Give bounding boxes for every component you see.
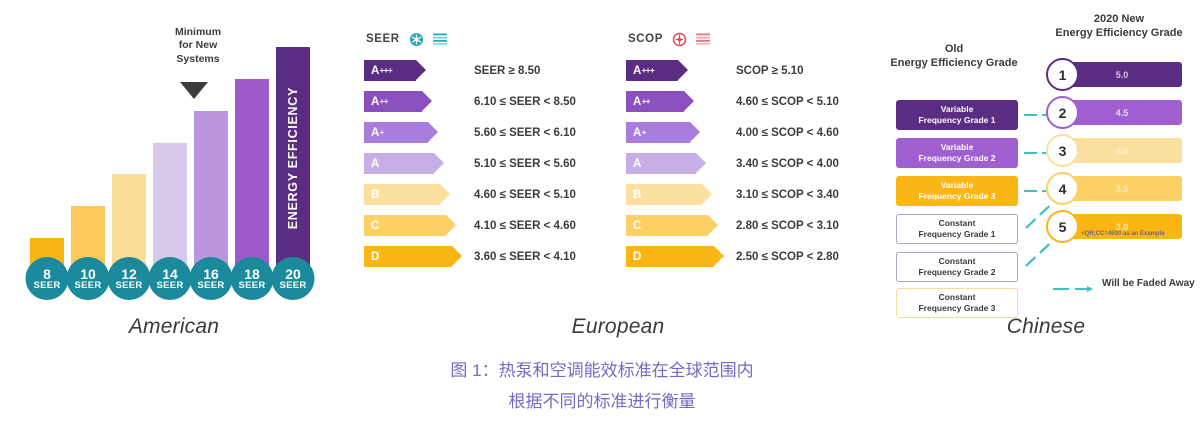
scop-grade-arrow: C <box>626 215 708 236</box>
scop-grade-letter: A <box>633 65 642 77</box>
seer-grade-row: B4.60 ≤ SEER < 5.10 <box>364 181 452 208</box>
seer-badge-label: SEER <box>156 281 183 291</box>
scop-grade-range: 3.10 ≤ SCOP < 3.40 <box>736 189 839 201</box>
new-grade-rank-circle: 2 <box>1046 96 1079 129</box>
seer-grade-row: A5.10 ≤ SEER < 5.60 <box>364 150 452 177</box>
seer-grade-range: 5.10 ≤ SEER < 5.60 <box>474 158 576 170</box>
new-grade-row: 4.52 <box>1046 100 1186 126</box>
seer-badge-value: 14 <box>162 267 178 281</box>
seer-grade-range: 3.60 ≤ SEER < 4.10 <box>474 251 576 263</box>
seer-header: SEER <box>364 30 452 48</box>
american-bar-slot: 8SEER <box>30 40 64 270</box>
scop-grade-range: 2.50 ≤ SCOP < 2.80 <box>736 251 839 263</box>
old-grade-box: ConstantFrequency Grade 1 <box>896 214 1018 244</box>
caption-line-2: 根据不同的标准进行衡量 <box>0 386 1204 417</box>
seer-grade-list: A+++SEER ≥ 8.50A++6.10 ≤ SEER < 8.50A+5.… <box>364 57 452 270</box>
scop-grade-letter: D <box>633 251 642 263</box>
seer-badge-label: SEER <box>33 281 60 291</box>
scop-grade-arrow: D <box>626 246 714 267</box>
scop-grade-arrow: A++ <box>626 91 684 112</box>
scop-grade-letter: B <box>633 189 642 201</box>
american-bar <box>235 79 269 270</box>
scop-grade-range: 4.00 ≤ SCOP < 4.60 <box>736 127 839 139</box>
american-bar: ENERGY EFFICIENCY <box>276 47 310 270</box>
seer-badge-label: SEER <box>279 281 306 291</box>
will-be-faded-away-label: Will be Faded Away <box>1102 278 1195 289</box>
new-grade-bar: 4.0 <box>1062 138 1182 163</box>
american-bar-slot: 18SEER <box>235 40 269 270</box>
panel-european: SEER A+++SEER ≥ <box>348 0 888 345</box>
seer-badge: 20SEER <box>272 257 315 300</box>
seer-badge: 14SEER <box>149 257 192 300</box>
new-grade-row: 4.03 <box>1046 138 1186 164</box>
seer-grade-range: 6.10 ≤ SEER < 8.50 <box>474 96 576 108</box>
scop-grade-superscript: ++ <box>642 97 650 106</box>
old-grade-line2: Frequency Grade 3 <box>918 191 995 202</box>
heating-icon <box>672 32 687 47</box>
new-grade-rank-circle: 3 <box>1046 134 1079 167</box>
old-grade-box: VariableFrequency Grade 3 <box>896 176 1018 206</box>
seer-badge-value: 10 <box>80 267 96 281</box>
old-grade-line1: Variable <box>941 104 974 115</box>
seer-grade-superscript: ++ <box>380 97 388 106</box>
american-bar <box>194 111 228 270</box>
scop-grade-arrow: A+ <box>626 122 690 143</box>
new-grade-rank-circle: 1 <box>1046 58 1079 91</box>
seer-grade-superscript: + <box>380 128 384 137</box>
caption-line-1: 图 1：热泵和空调能效标准在全球范围内 <box>0 355 1204 386</box>
seer-grade-range: SEER ≥ 8.50 <box>474 65 540 77</box>
seer-badge-label: SEER <box>238 281 265 291</box>
seer-badge-label: SEER <box>115 281 142 291</box>
seer-badge: 12SEER <box>108 257 151 300</box>
new-grade-row: 5.01 <box>1046 62 1186 88</box>
seer-grade-letter: C <box>371 220 380 232</box>
scop-grade-letter: C <box>633 220 642 232</box>
old-grade-line2: Frequency Grade 3 <box>918 303 995 314</box>
old-grade-header-line1: Old <box>890 42 1018 56</box>
scop-header: SCOP <box>626 30 714 48</box>
seer-grade-row: C4.10 ≤ SEER < 4.60 <box>364 212 452 239</box>
min-note-line2: for New <box>152 39 244 52</box>
seer-badge-value: 12 <box>121 267 137 281</box>
seer-grade-range: 4.10 ≤ SEER < 4.60 <box>474 220 576 232</box>
seer-badge-label: SEER <box>197 281 224 291</box>
old-grade-box: VariableFrequency Grade 1 <box>896 100 1018 130</box>
seer-grade-arrow: C <box>364 215 446 236</box>
seer-grade-letter: A <box>371 127 380 139</box>
american-bar <box>112 174 146 270</box>
seer-badge: 18SEER <box>231 257 274 300</box>
scop-grade-row: D2.50 ≤ SCOP < 2.80 <box>626 243 714 270</box>
min-note-line1: Minimum <box>152 26 244 39</box>
european-seer-block: SEER A+++SEER ≥ <box>364 30 452 274</box>
new-grade-rank-circle: 5 <box>1046 210 1079 243</box>
old-grade-line1: Constant <box>939 218 976 229</box>
new-grade-header: 2020 New Energy Efficiency Grade <box>1034 12 1204 41</box>
seer-grade-arrow: A++ <box>364 91 422 112</box>
seer-badge: 16SEER <box>190 257 233 300</box>
scop-grade-range: SCOP ≥ 5.10 <box>736 65 803 77</box>
old-grade-header: Old Energy Efficiency Grade <box>890 42 1018 71</box>
old-grade-box: ConstantFrequency Grade 2 <box>896 252 1018 282</box>
american-bar-slot: 10SEER <box>71 40 105 270</box>
panel-title-european: European <box>348 315 888 339</box>
scop-grade-letter: A <box>633 96 642 108</box>
scop-grade-row: A++4.60 ≤ SCOP < 5.10 <box>626 88 714 115</box>
energy-efficiency-axis-label: ENERGY EFFICIENCY <box>286 87 300 229</box>
new-grade-header-line2: Energy Efficiency Grade <box>1034 26 1204 40</box>
seer-grade-row: A+++SEER ≥ 8.50 <box>364 57 452 84</box>
old-grade-header-line2: Energy Efficiency Grade <box>890 56 1018 70</box>
scop-grade-superscript: + <box>642 128 646 137</box>
new-grade-rank-circle: 4 <box>1046 172 1079 205</box>
seer-grade-letter: A <box>371 158 380 170</box>
new-grade-bar: 5.0 <box>1062 62 1182 87</box>
scop-grade-arrow: B <box>626 184 702 205</box>
old-grade-line1: Constant <box>939 292 976 303</box>
heat-flag-icon <box>696 33 711 45</box>
panel-title-chinese: Chinese <box>888 315 1204 339</box>
european-scop-block: SCOP A+++SCOP ≥ <box>626 30 714 274</box>
old-grade-line2: Frequency Grade 2 <box>918 153 995 164</box>
seer-metric-label: SEER <box>366 33 400 45</box>
scop-grade-range: 3.40 ≤ SCOP < 4.00 <box>736 158 839 170</box>
scop-grade-superscript: +++ <box>642 66 655 75</box>
seer-badge: 8SEER <box>26 257 69 300</box>
faded-away-arrow-icon <box>1053 288 1093 290</box>
scop-grade-range: 2.80 ≤ SCOP < 3.10 <box>736 220 839 232</box>
seer-badge-value: 8 <box>43 267 51 281</box>
scop-grade-letter: A <box>633 158 642 170</box>
scop-grade-row: A+++SCOP ≥ 5.10 <box>626 57 714 84</box>
seer-badge: 10SEER <box>67 257 110 300</box>
seer-grade-range: 5.60 ≤ SEER < 6.10 <box>474 127 576 139</box>
minimum-for-new-systems-note: Minimum for New Systems <box>152 26 244 66</box>
seer-badge-value: 16 <box>203 267 219 281</box>
seer-grade-arrow: B <box>364 184 440 205</box>
seer-badge-value: 18 <box>244 267 260 281</box>
old-grade-line1: Variable <box>941 180 974 191</box>
seer-grade-letter: B <box>371 189 380 201</box>
seer-grade-row: D3.60 ≤ SEER < 4.10 <box>364 243 452 270</box>
new-grade-header-line1: 2020 New <box>1034 12 1204 26</box>
scop-grade-list: A+++SCOP ≥ 5.10A++4.60 ≤ SCOP < 5.10A+4.… <box>626 57 714 270</box>
scop-grade-letter: A <box>633 127 642 139</box>
old-grade-line1: Constant <box>939 256 976 267</box>
scop-grade-row: A3.40 ≤ SCOP < 4.00 <box>626 150 714 177</box>
seer-badge-label: SEER <box>74 281 101 291</box>
old-grade-box: VariableFrequency Grade 2 <box>896 138 1018 168</box>
seer-grade-superscript: +++ <box>380 66 393 75</box>
seer-grade-row: A+5.60 ≤ SEER < 6.10 <box>364 119 452 146</box>
scop-metric-label: SCOP <box>628 33 663 45</box>
scop-grade-range: 4.60 ≤ SCOP < 5.10 <box>736 96 839 108</box>
panel-title-american: American <box>0 315 348 339</box>
american-bar-slot: ENERGY EFFICIENCY20SEER <box>276 40 310 270</box>
eu-flag-icon <box>433 33 448 45</box>
seer-grade-arrow: A+++ <box>364 60 416 81</box>
seer-grade-range: 4.60 ≤ SEER < 5.10 <box>474 189 576 201</box>
scop-grade-arrow: A+++ <box>626 60 678 81</box>
old-grade-line2: Frequency Grade 1 <box>918 115 995 126</box>
new-grade-row: 3.54 <box>1046 176 1186 202</box>
american-bar <box>153 143 187 270</box>
cooling-icon <box>409 32 424 47</box>
american-bar-slot: 14SEER <box>153 40 187 270</box>
seer-grade-row: A++6.10 ≤ SEER < 8.50 <box>364 88 452 115</box>
old-grade-box: ConstantFrequency Grade 3 <box>896 288 1018 318</box>
old-grade-line1: Variable <box>941 142 974 153</box>
panel-american: 8SEER10SEER12SEER14SEER16SEER18SEERENERG… <box>0 0 348 345</box>
seer-grade-arrow: A+ <box>364 122 428 143</box>
old-grade-line2: Frequency Grade 1 <box>918 229 995 240</box>
scop-grade-row: B3.10 ≤ SCOP < 3.40 <box>626 181 714 208</box>
american-bar-chart: 8SEER10SEER12SEER14SEER16SEER18SEERENERG… <box>30 40 330 270</box>
minimum-marker-triangle-icon <box>180 82 208 99</box>
figure-root: 8SEER10SEER12SEER14SEER16SEER18SEERENERG… <box>0 0 1204 446</box>
american-bar-slot: 16SEER <box>194 40 228 270</box>
scop-grade-row: C2.80 ≤ SCOP < 3.10 <box>626 212 714 239</box>
seer-grade-arrow: D <box>364 246 452 267</box>
min-note-line3: Systems <box>152 53 244 66</box>
old-grade-line2: Frequency Grade 2 <box>918 267 995 278</box>
seer-grade-letter: A <box>371 96 380 108</box>
scop-grade-row: A+4.00 ≤ SCOP < 4.60 <box>626 119 714 146</box>
seer-badge-value: 20 <box>285 267 301 281</box>
new-grade-bar: 4.5 <box>1062 100 1182 125</box>
seer-grade-arrow: A <box>364 153 434 174</box>
american-bar-slot: 12SEER <box>112 40 146 270</box>
new-grade-bar: 3.5 <box>1062 176 1182 201</box>
scop-grade-arrow: A <box>626 153 696 174</box>
seer-grade-letter: D <box>371 251 380 263</box>
panel-chinese: Old Energy Efficiency Grade 2020 New Ene… <box>888 0 1204 345</box>
seer-grade-letter: A <box>371 65 380 77</box>
figure-caption: 图 1：热泵和空调能效标准在全球范围内 根据不同的标准进行衡量 <box>0 355 1204 418</box>
